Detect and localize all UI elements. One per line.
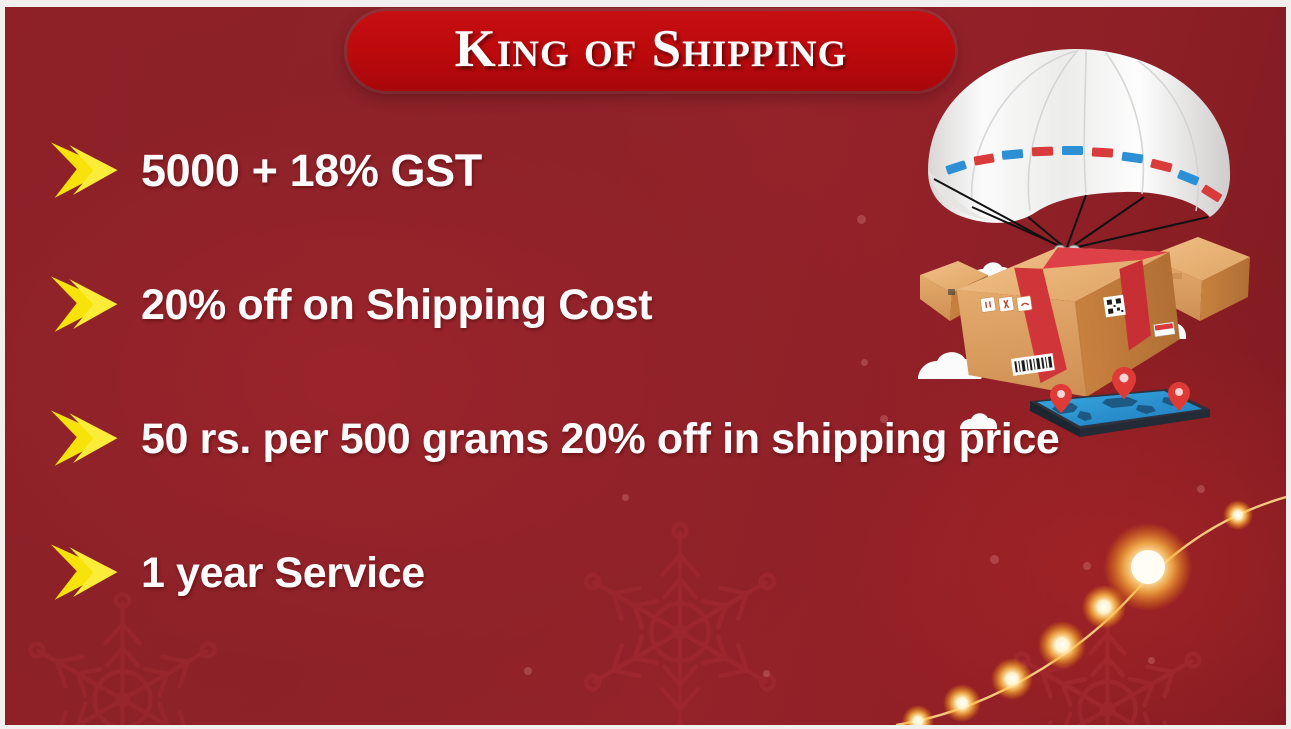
- chevron-arrow-icon: [49, 540, 123, 606]
- main-shipping-box: [953, 232, 1188, 413]
- chevron-arrow-icon: [49, 272, 123, 338]
- parachute-canopy: [928, 49, 1230, 223]
- offer-text: 5000 + 18% GST: [141, 145, 482, 197]
- speckle-dot: [763, 670, 770, 677]
- cloud: [959, 413, 997, 429]
- speckle-dot: [524, 667, 532, 675]
- title-banner: King of Shipping: [347, 11, 955, 91]
- flag-sticker: [1154, 322, 1175, 337]
- parachute-package-delivery-illustration: [910, 49, 1265, 444]
- chevron-arrow-icon: [49, 406, 123, 472]
- page-title: King of Shipping: [455, 23, 848, 79]
- qr-code-label: [1103, 295, 1126, 318]
- fairy-light-string: [866, 475, 1286, 725]
- offer-text: 1 year Service: [141, 549, 425, 598]
- chevron-arrow-icon: [49, 138, 123, 204]
- promotional-banner: King of Shipping 5000 + 18% GST 20% off …: [0, 0, 1291, 729]
- offer-text: 20% off on Shipping Cost: [141, 281, 652, 330]
